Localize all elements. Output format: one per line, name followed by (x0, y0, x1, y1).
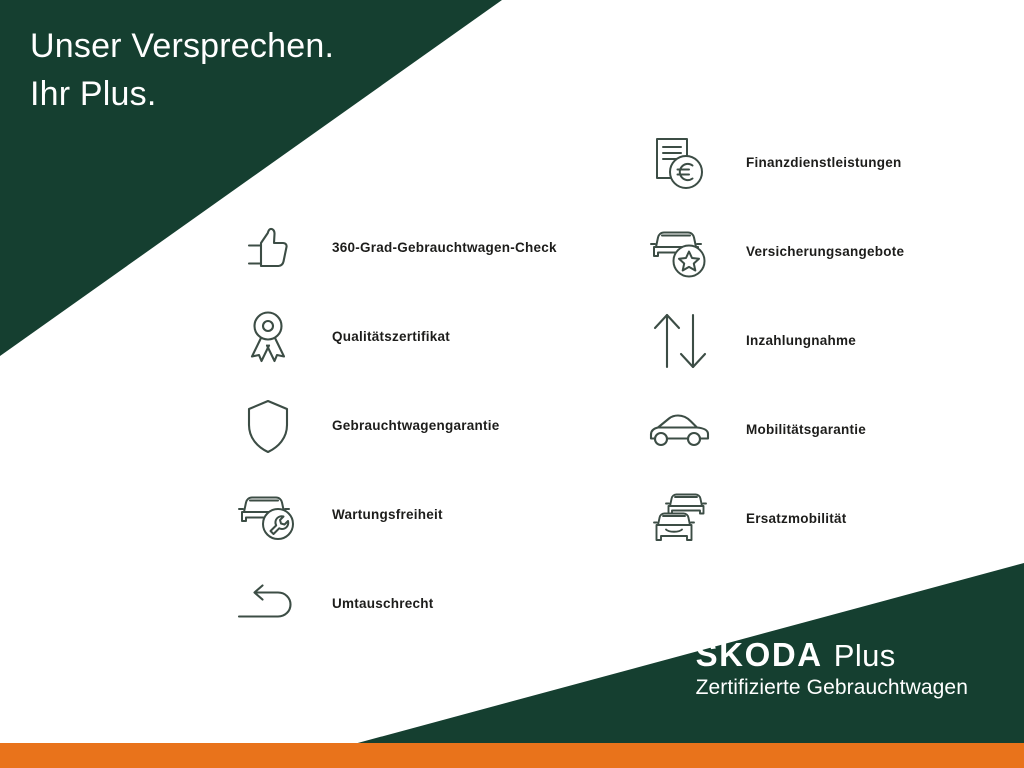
feature-item-qualitaetszertifikat[interactable]: Qualitätszertifikat (232, 292, 612, 381)
car-side-icon (644, 394, 716, 466)
feature-list-right: Finanzdienstleistungen Versicherungsange… (644, 118, 1024, 563)
promo-banner: Unser Versprechen. Ihr Plus. 360-Grad-Ge… (0, 0, 1024, 768)
feature-label: Qualitätszertifikat (332, 329, 450, 344)
feature-label: Gebrauchtwagengarantie (332, 418, 500, 433)
car-star-icon (644, 216, 716, 288)
feature-list-left: 360-Grad-Gebrauchtwagen-Check Qualitätsz… (232, 203, 612, 648)
brand-suffix: Plus (834, 638, 896, 674)
feature-label: Mobilitätsgarantie (746, 422, 866, 437)
brand-lockup: ŠKODA Plus Zertifizierte Gebrauchtwagen (696, 636, 968, 700)
car-wrench-icon (232, 479, 304, 551)
shield-icon (232, 390, 304, 462)
feature-label: Umtauschrecht (332, 596, 434, 611)
feature-label: 360-Grad-Gebrauchtwagen-Check (332, 240, 557, 255)
feature-item-360-grad-check[interactable]: 360-Grad-Gebrauchtwagen-Check (232, 203, 612, 292)
page-title: Unser Versprechen. Ihr Plus. (30, 22, 460, 119)
u-turn-arrow-icon (232, 568, 304, 640)
award-rosette-icon (232, 301, 304, 373)
feature-item-umtauschrecht[interactable]: Umtauschrecht (232, 559, 612, 648)
up-down-arrows-icon (644, 305, 716, 377)
feature-label: Finanzdienstleistungen (746, 155, 902, 170)
orange-bottom-bar (0, 743, 1024, 768)
feature-label: Inzahlungnahme (746, 333, 856, 348)
brand-name-row: ŠKODA Plus (696, 636, 968, 674)
feature-label: Ersatzmobilität (746, 511, 847, 526)
feature-item-gebrauchtwagengarantie[interactable]: Gebrauchtwagengarantie (232, 381, 612, 470)
brand-tagline: Zertifizierte Gebrauchtwagen (696, 676, 968, 700)
feature-item-ersatzmobilitaet[interactable]: Ersatzmobilität (644, 474, 1024, 563)
feature-label: Wartungsfreiheit (332, 507, 443, 522)
feature-item-versicherungsangebote[interactable]: Versicherungsangebote (644, 207, 1024, 296)
feature-item-wartungsfreiheit[interactable]: Wartungsfreiheit (232, 470, 612, 559)
feature-label: Versicherungsangebote (746, 244, 904, 259)
thumbs-up-icon (232, 212, 304, 284)
brand-name: ŠKODA (696, 636, 823, 674)
feature-item-mobilitaetsgarantie[interactable]: Mobilitätsgarantie (644, 385, 1024, 474)
feature-item-inzahlungnahme[interactable]: Inzahlungnahme (644, 296, 1024, 385)
document-euro-icon (644, 127, 716, 199)
feature-item-finanzdienstleistungen[interactable]: Finanzdienstleistungen (644, 118, 1024, 207)
two-cars-icon (644, 483, 716, 555)
